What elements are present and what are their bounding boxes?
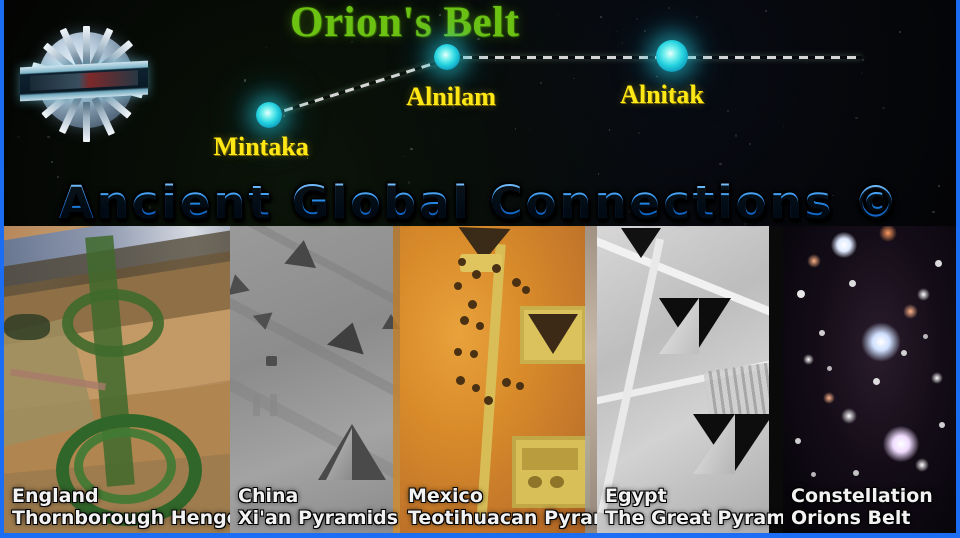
- sky-dust-speck: [439, 14, 441, 16]
- sky-dust-speck: [609, 129, 611, 131]
- sky-dust-speck: [307, 157, 308, 158]
- panel-egypt[interactable]: Egypt The Great Pyramids: [597, 226, 783, 533]
- sky-dust-speck: [621, 42, 623, 44]
- structure-dot: [458, 258, 466, 266]
- panel-country-mexico: Mexico: [408, 485, 597, 507]
- star-glow-icon: [256, 102, 282, 128]
- pyramid-shadow: [253, 312, 275, 331]
- sky-dust-speck: [454, 185, 456, 187]
- sky-dust-speck: [351, 41, 353, 43]
- structure-dot: [454, 348, 462, 356]
- logo-band: [20, 61, 148, 102]
- star: [853, 470, 859, 476]
- pyramid-shadow: [327, 318, 371, 355]
- sky-dust-speck: [807, 62, 808, 63]
- sky-dust-speck: [938, 185, 940, 187]
- panel-caption-mexico: Mexico Teotihuacan Pyramids: [400, 485, 597, 529]
- sky-dust-speck: [636, 18, 638, 20]
- sky-dust-speck: [862, 59, 864, 61]
- sky-dust-speck: [735, 134, 737, 136]
- sky-dust-speck: [899, 31, 901, 33]
- sky-dust-speck: [644, 30, 646, 32]
- belt-line-segment: [447, 56, 862, 59]
- pyramid-mark: [270, 394, 277, 416]
- structure-dot: [522, 286, 530, 294]
- star-glow-icon: [656, 40, 688, 72]
- panel-site-mexico: Teotihuacan Pyramids: [408, 507, 597, 529]
- red-star: [903, 304, 918, 319]
- structure-dot: [484, 396, 493, 405]
- bright-star: [861, 322, 901, 362]
- star: [827, 366, 832, 371]
- structure-dot: [456, 376, 465, 385]
- sky-dust-speck: [452, 106, 454, 108]
- structure-dot: [502, 378, 511, 387]
- star-alnilam: [434, 44, 460, 70]
- structure-dot: [492, 264, 501, 273]
- hedge-row: [4, 314, 50, 340]
- logo-spike: [83, 26, 90, 66]
- pyramid-shadow: [284, 238, 319, 268]
- panel-site-china: Xi'an Pyramids: [238, 507, 400, 529]
- sky-dust-speck: [598, 173, 600, 175]
- sky-dust-speck: [668, 7, 670, 9]
- pyramid-shadow-large: [318, 424, 386, 480]
- sky-dust-speck: [51, 161, 53, 163]
- sky-dust-speck: [540, 82, 542, 84]
- star-glow-icon: [434, 44, 460, 70]
- panel-country-space: Constellation: [791, 485, 956, 507]
- sky-dust-speck: [410, 148, 412, 150]
- star: [917, 288, 930, 301]
- poster-root: Orion's Belt Mintaka Alnilam Alnitak Anc…: [0, 0, 960, 538]
- panel-caption-space: Constellation Orions Belt: [783, 485, 956, 529]
- sky-dust-speck: [558, 14, 560, 16]
- sky-dust-speck: [266, 47, 267, 48]
- bright-star: [831, 232, 857, 258]
- star: [849, 280, 856, 287]
- structure-dot: [516, 382, 524, 390]
- sky-dust-speck: [495, 60, 496, 61]
- star: [931, 372, 943, 384]
- panel-caption-egypt: Egypt The Great Pyramids: [597, 485, 783, 529]
- sky-dust-speck: [744, 223, 746, 225]
- sky-dust-speck: [283, 115, 285, 117]
- panel-caption-england: England Thornborough Henge: [4, 485, 230, 529]
- structure-dot: [460, 316, 469, 325]
- sky-dust-speck: [236, 200, 238, 202]
- sky-dust-speck: [719, 163, 721, 165]
- sky-dust-speck: [149, 206, 151, 208]
- logo-spike: [83, 102, 90, 142]
- sky-dust-speck: [765, 10, 767, 12]
- red-star: [807, 254, 821, 268]
- sky-dust-speck: [515, 128, 516, 129]
- sky-dust-speck: [793, 99, 794, 100]
- red-star: [879, 226, 897, 242]
- sky-dust-speck: [855, 117, 857, 119]
- pyramid-mark: [266, 356, 277, 366]
- sky-dust-speck: [696, 16, 698, 18]
- panel-caption-china: China Xi'an Pyramids: [230, 485, 400, 529]
- star: [795, 438, 801, 444]
- ciudadela-inner: [522, 448, 578, 470]
- sky-dust-speck: [932, 211, 934, 213]
- star: [803, 354, 814, 365]
- star: [923, 334, 928, 339]
- structure-dot: [472, 270, 481, 279]
- sky-dust-speck: [75, 50, 77, 52]
- star: [939, 422, 945, 428]
- sky-dust-speck: [408, 181, 410, 183]
- sky-dust-speck: [403, 156, 405, 158]
- sky-dust-speck: [783, 125, 784, 126]
- panel-space[interactable]: Constellation Orions Belt: [783, 226, 956, 533]
- star-alnitak: [656, 40, 688, 72]
- panel-china[interactable]: China Xi'an Pyramids: [230, 226, 400, 533]
- ancient-global-connections-logo: [18, 12, 153, 147]
- panel-mexico[interactable]: Mexico Teotihuacan Pyramids: [400, 226, 597, 533]
- sky-dust-speck: [749, 143, 751, 145]
- pyramid-menkaure: [621, 228, 661, 258]
- sky-dust-speck: [616, 31, 617, 32]
- henge-circle-upper: [62, 289, 164, 357]
- panel-site-egypt: The Great Pyramids: [605, 507, 783, 529]
- red-star: [823, 392, 835, 404]
- sky-dust-speck: [573, 78, 574, 79]
- sky-dust-speck: [638, 132, 640, 134]
- panel-england[interactable]: England Thornborough Henge: [4, 226, 230, 533]
- star: [797, 290, 805, 298]
- star: [935, 260, 942, 267]
- panel-site-space: Orions Belt: [791, 507, 956, 529]
- star: [819, 330, 825, 336]
- sky-dust-speck: [882, 107, 884, 109]
- structure-dot: [476, 322, 484, 330]
- structure-dot: [470, 350, 478, 358]
- panel-country-england: England: [12, 485, 230, 507]
- desert-road: [598, 238, 664, 514]
- sky-dust-speck: [628, 210, 631, 213]
- sky-dust-speck: [861, 72, 863, 74]
- star: [873, 378, 880, 385]
- structure-dot: [468, 300, 477, 309]
- pyramid-shadow: [230, 272, 250, 295]
- structure-dot: [512, 278, 521, 287]
- sky-dust-speck: [717, 127, 718, 128]
- star: [811, 472, 816, 477]
- sky-dust-speck: [244, 79, 246, 81]
- star-label-mintaka: Mintaka: [213, 132, 308, 162]
- star: [901, 350, 907, 356]
- orions-belt-title: Orion's Belt: [290, 0, 519, 47]
- structure-dot: [472, 384, 480, 392]
- star-label-alnitak: Alnitak: [620, 80, 704, 110]
- sky-dust-speck: [832, 195, 833, 196]
- sky-dust-speck: [477, 38, 479, 40]
- pyramid-of-the-sun: [528, 314, 578, 354]
- panel-country-egypt: Egypt: [605, 485, 783, 507]
- sky-dust-speck: [529, 129, 531, 131]
- pyramid-mark: [253, 394, 260, 416]
- star: [841, 408, 857, 424]
- sky-banner: Orion's Belt Mintaka Alnilam Alnitak: [4, 0, 956, 228]
- bright-star: [883, 426, 919, 462]
- star: [915, 458, 929, 472]
- sky-dust-speck: [656, 76, 658, 78]
- sky-dust-speck: [727, 110, 729, 112]
- site-panel-strip: England Thornborough Henge China Xi'an P…: [4, 226, 956, 533]
- star-mintaka: [256, 102, 282, 128]
- sky-dust-speck: [600, 16, 602, 18]
- sky-dust-speck: [108, 142, 109, 143]
- panel-site-england: Thornborough Henge: [12, 507, 230, 529]
- sky-dust-speck: [57, 176, 59, 178]
- panel-country-china: China: [238, 485, 400, 507]
- structure-dot: [454, 282, 462, 290]
